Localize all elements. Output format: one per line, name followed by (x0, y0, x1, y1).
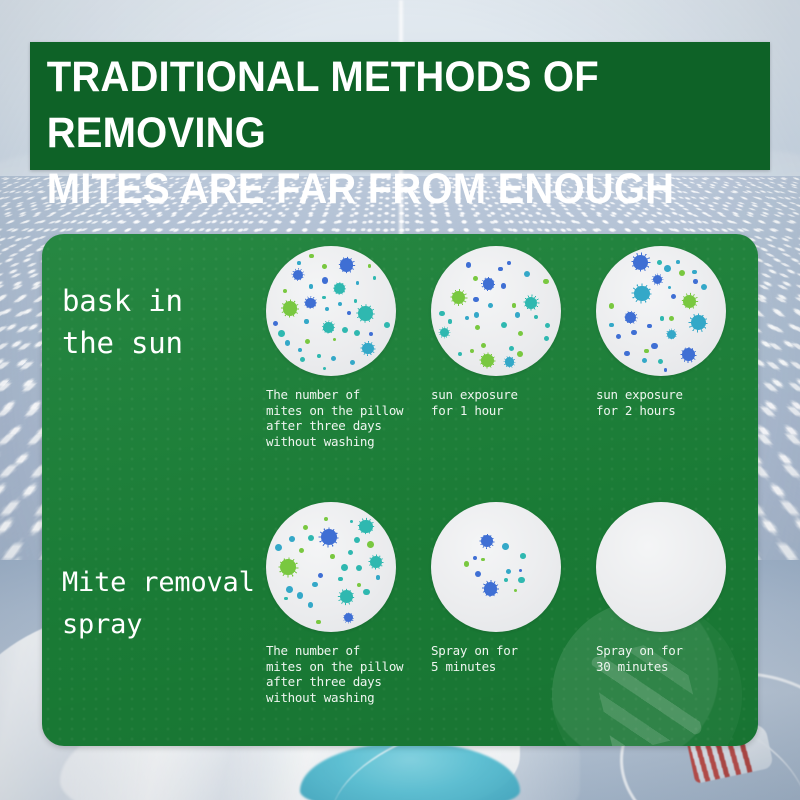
mite-speck (356, 565, 362, 571)
mite-speck (303, 525, 308, 530)
mite-speck (350, 520, 354, 524)
mite-germ (634, 286, 650, 302)
mite-speck (354, 330, 360, 336)
row-mite-removal-spray: Mite removal spray The number of mites o… (42, 502, 758, 738)
mite-speck (692, 270, 696, 274)
mite-speck (501, 283, 507, 289)
mite-germ (481, 535, 493, 547)
mite-speck (308, 602, 314, 608)
mite-germ-body (691, 315, 706, 330)
mite-speck (518, 577, 524, 583)
mite-speck (524, 271, 531, 278)
mite-speck (376, 575, 381, 580)
mite-speck (631, 330, 637, 336)
mite-speck (518, 331, 523, 336)
mite-speck (514, 589, 518, 593)
sample-cell-spray-baseline: The number of mites on the pillow after … (266, 502, 426, 705)
mite-speck (285, 340, 291, 346)
mite-speck (384, 322, 390, 328)
mite-germ-body (358, 306, 373, 321)
mite-speck (644, 349, 649, 354)
mite-speck (474, 312, 480, 318)
mite-speck (273, 321, 278, 326)
sample-caption: The number of mites on the pillow after … (266, 387, 436, 449)
mite-germ (293, 270, 303, 280)
mite-germ-body (483, 278, 494, 289)
sample-caption: sun exposure for 2 hours (596, 387, 756, 418)
mite-germ-body (481, 354, 494, 367)
mite-speck (368, 264, 372, 268)
mite-germ (340, 590, 353, 603)
mite-speck (693, 279, 698, 284)
mite-speck (517, 351, 523, 357)
mite-germ-body (667, 330, 676, 339)
sample-caption: Spray on for 5 minutes (431, 643, 591, 674)
mite-speck (347, 311, 351, 315)
mite-speck (284, 597, 288, 601)
page-title: TRADITIONAL METHODS OF REMOVING MITES AR… (30, 42, 718, 217)
mite-germ-body (525, 297, 538, 310)
mite-germ (683, 295, 696, 308)
mite-speck (458, 352, 462, 356)
mite-speck (304, 319, 308, 323)
mite-speck (501, 322, 507, 328)
mite-speck (331, 356, 336, 361)
mite-sample-dish (431, 246, 561, 376)
mite-sample-dish (596, 502, 726, 632)
mite-germ-body (633, 255, 648, 270)
mite-speck (481, 558, 485, 562)
mite-germ-body (359, 520, 372, 533)
mite-speck (297, 261, 301, 265)
mite-germ-body (334, 283, 344, 293)
mite-speck (369, 332, 373, 336)
mite-germ (280, 559, 296, 575)
mite-speck (520, 553, 526, 559)
mite-speck (357, 583, 361, 587)
mite-germ-body (280, 559, 296, 575)
mite-germ (625, 312, 636, 323)
mite-germ (334, 283, 344, 293)
mite-germ (483, 278, 494, 289)
mite-germ (358, 306, 373, 321)
mite-speck (342, 327, 348, 333)
mite-germ-body (293, 270, 303, 280)
mite-speck (333, 338, 337, 342)
mite-germ (321, 529, 337, 545)
mite-speck (657, 260, 662, 265)
sample-caption: Spray on for 30 minutes (596, 643, 756, 674)
mite-speck (676, 260, 680, 264)
mite-speck (488, 303, 493, 308)
mite-germ (653, 275, 662, 284)
mite-germ-body (481, 535, 493, 547)
mite-speck (660, 316, 664, 320)
mite-germ (633, 255, 648, 270)
sample-cell-sun-1-hour: sun exposure for 1 hour (431, 246, 591, 418)
mite-germ-body (344, 613, 353, 622)
mite-speck (466, 262, 472, 268)
mite-speck (512, 303, 516, 307)
row-label-mite-removal-spray: Mite removal spray (62, 562, 270, 646)
mite-germ-body (283, 301, 297, 315)
mite-speck (363, 589, 369, 595)
mite-speck (278, 330, 285, 337)
mite-germ (283, 301, 297, 315)
mite-germ (440, 328, 450, 338)
mite-germ-body (653, 275, 662, 284)
mite-speck (308, 535, 314, 541)
mite-speck (354, 537, 360, 543)
mite-germ-body (340, 258, 353, 271)
mite-speck (609, 303, 614, 308)
mite-germ (344, 613, 353, 622)
mite-speck (322, 264, 327, 269)
mite-germ (682, 348, 695, 361)
mite-speck (679, 270, 685, 276)
mite-germ-body (305, 298, 315, 308)
mite-speck (504, 578, 508, 582)
mite-speck (545, 323, 550, 328)
mite-speck (305, 339, 310, 344)
mite-speck (338, 577, 343, 582)
mite-germ-body (625, 312, 636, 323)
mite-speck (289, 536, 295, 542)
mite-germ-body (370, 556, 382, 568)
mite-speck (519, 569, 523, 573)
mite-speck (309, 284, 314, 289)
mite-speck (502, 543, 509, 550)
mite-germ-body (452, 291, 465, 304)
mite-speck (470, 349, 474, 353)
mite-sample-dish (266, 246, 396, 376)
mite-germ-body (505, 357, 514, 366)
mite-speck (464, 561, 470, 567)
mite-speck (609, 323, 613, 327)
mite-germ (481, 354, 494, 367)
mite-germ (484, 582, 498, 596)
mite-speck (465, 316, 469, 320)
mite-speck (651, 343, 657, 349)
mite-speck (509, 346, 514, 351)
mite-speck (701, 284, 707, 290)
mite-speck (647, 324, 651, 328)
mite-germ-body (321, 529, 337, 545)
sample-cell-sun-2-hours: sun exposure for 2 hours (596, 246, 756, 418)
mite-speck (324, 517, 328, 521)
mite-germ (525, 297, 538, 310)
mite-speck (297, 592, 304, 599)
mite-germ-body (362, 343, 374, 355)
mite-germ (667, 330, 676, 339)
mite-speck (286, 586, 293, 593)
mite-germ (691, 315, 706, 330)
mite-germ (340, 258, 353, 271)
mite-germ (359, 520, 372, 533)
mite-germ (362, 343, 374, 355)
mite-germ (505, 357, 514, 366)
mite-speck (544, 336, 549, 341)
mite-speck (356, 281, 360, 285)
mite-speck (367, 541, 374, 548)
sample-caption: The number of mites on the pillow after … (266, 643, 436, 705)
mite-speck (498, 267, 503, 272)
mite-speck (481, 343, 486, 348)
mite-germ-body (683, 295, 696, 308)
mite-speck (473, 556, 477, 560)
mite-speck (299, 548, 304, 553)
mite-germ-body (323, 322, 334, 333)
mite-speck (475, 325, 480, 330)
mite-speck (309, 254, 314, 259)
mite-germ-body (484, 582, 498, 596)
mite-speck (642, 358, 647, 363)
mite-germ (452, 291, 465, 304)
mite-speck (317, 354, 321, 358)
mite-speck (330, 554, 335, 559)
mite-speck (316, 620, 321, 625)
mite-speck (325, 307, 329, 311)
mite-speck (338, 302, 342, 306)
mite-speck (515, 312, 520, 317)
mite-speck (348, 550, 353, 555)
mite-speck (373, 276, 377, 280)
mite-germ-body (340, 590, 353, 603)
mite-speck (664, 265, 671, 272)
mite-speck (439, 311, 445, 317)
sample-cell-sun-baseline: The number of mites on the pillow after … (266, 246, 426, 449)
mite-speck (473, 297, 478, 302)
mite-speck (506, 569, 511, 574)
mite-speck (624, 351, 630, 357)
mite-speck (671, 294, 676, 299)
mite-speck (668, 286, 672, 290)
sample-cell-spray-30-minutes: Spray on for 30 minutes (596, 502, 756, 674)
mite-speck (475, 571, 481, 577)
mite-germ (323, 322, 334, 333)
mite-speck (350, 360, 355, 365)
mite-sample-dish (266, 502, 396, 632)
mite-speck (323, 367, 327, 371)
mite-speck (300, 357, 305, 362)
mite-speck (534, 315, 539, 320)
mite-speck (669, 316, 674, 321)
mite-speck (322, 296, 326, 300)
mite-speck (473, 276, 478, 281)
sample-cell-spray-5-minutes: Spray on for 5 minutes (431, 502, 591, 674)
mite-speck (448, 319, 452, 323)
mite-speck (616, 334, 621, 339)
comparison-panel: bask in the sun The number of mites on t… (42, 234, 758, 746)
headline-banner: TRADITIONAL METHODS OF REMOVING MITES AR… (30, 42, 770, 170)
mite-speck (283, 289, 287, 293)
mite-speck (354, 299, 358, 303)
mite-speck (658, 359, 663, 364)
mite-sample-dish (596, 246, 726, 376)
mite-speck (664, 368, 668, 372)
mite-speck (543, 279, 548, 284)
mite-sample-dish (431, 502, 561, 632)
mite-speck (318, 573, 323, 578)
mite-speck (322, 277, 328, 283)
mite-germ-body (682, 348, 695, 361)
sample-caption: sun exposure for 1 hour (431, 387, 591, 418)
mite-germ-body (440, 328, 450, 338)
mite-germ (305, 298, 315, 308)
mite-speck (312, 582, 317, 587)
mite-speck (275, 544, 282, 551)
mite-germ (370, 556, 382, 568)
mite-speck (298, 348, 302, 352)
mite-speck (341, 564, 348, 571)
mite-germ-body (634, 286, 650, 302)
row-bask-in-the-sun: bask in the sun The number of mites on t… (42, 246, 758, 482)
row-label-bask-in-the-sun: bask in the sun (62, 280, 270, 364)
mite-speck (507, 261, 511, 265)
